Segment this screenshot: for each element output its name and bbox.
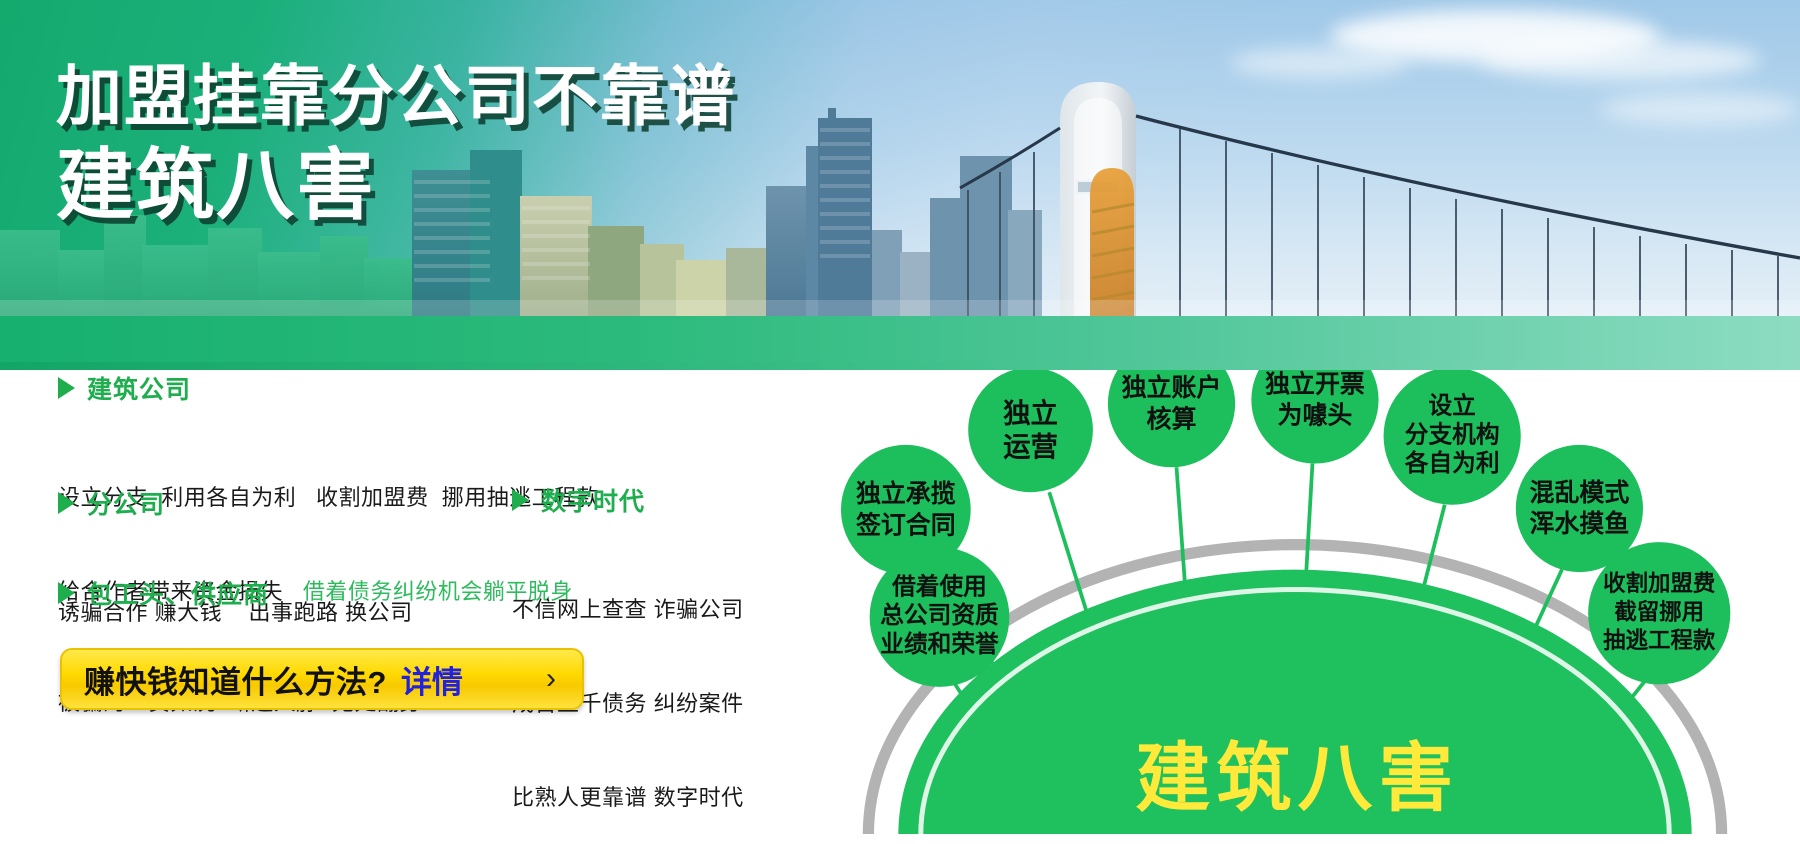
section-heading: 分公司 xyxy=(58,485,478,521)
bubble-4[interactable]: 独立账户 核算 xyxy=(1108,370,1235,467)
bubble-6-line-3: 各自为利 xyxy=(1404,449,1500,477)
body-line: 比熟人更靠谱 数字时代 xyxy=(512,782,772,813)
bubble-1-line-2: 总公司资质 xyxy=(880,601,999,629)
cta-button[interactable]: 赚快钱知道什么方法? 详情 › xyxy=(60,648,584,710)
section-heading: 数字时代 xyxy=(512,482,772,518)
bubble-5-line-2: 为噱头 xyxy=(1278,402,1353,430)
bubble-4-line-2: 核算 xyxy=(1147,404,1197,433)
section-heading-label: 包工头、供应商 xyxy=(87,575,269,611)
page-title: 加盟挂靠分公司不靠谱 建筑八害 xyxy=(56,60,736,229)
bubble-8[interactable]: 收割加盟费 截留挪用 抽逃工程款 xyxy=(1588,542,1730,684)
bridge-illustration xyxy=(960,82,1800,320)
cta-main-label: 赚快钱知道什么方法? xyxy=(84,657,387,702)
bubble-6-line-2: 分支机构 xyxy=(1405,420,1500,448)
bubble-4-line-1: 独立账户 xyxy=(1122,373,1222,402)
triangle-bullet-icon xyxy=(512,489,529,511)
hero-green-baseline xyxy=(0,316,1800,370)
bubble-5-line-1: 独立开票 xyxy=(1265,370,1365,398)
bubble-8-line-2: 截留挪用 xyxy=(1614,599,1704,624)
diagram-svg: 建筑八害 借着使用 总公司资质 业绩和荣誉 独立承揽 签订合同 xyxy=(790,370,1800,844)
triangle-bullet-icon xyxy=(58,492,75,514)
body-line: 不信网上查查 诈骗公司 xyxy=(512,594,772,625)
chevron-right-icon: › xyxy=(546,664,560,694)
cta-detail-link[interactable]: 详情 xyxy=(401,657,463,702)
section-heading: 包工头、供应商 xyxy=(58,575,518,611)
section-heading-label: 数字时代 xyxy=(541,482,645,518)
bubble-3-line-2: 运营 xyxy=(1003,431,1058,462)
bubble-2-line-1: 独立承揽 xyxy=(856,479,956,508)
dome-center-label: 建筑八害 xyxy=(1135,736,1459,820)
bubble-2-circle[interactable] xyxy=(841,445,971,575)
section-heading: 建筑公司 xyxy=(58,370,578,406)
title-line-2: 建筑八害 xyxy=(56,142,736,229)
poster-root: 加盟挂靠分公司不靠谱 建筑八害 建筑公司 设立分支 利用各自为利 收割加盟费 挪… xyxy=(0,0,1800,844)
bubble-6-line-1: 设立 xyxy=(1428,392,1475,420)
bubble-1-line-1: 借着使用 xyxy=(891,573,987,601)
bubble-2[interactable]: 独立承揽 签订合同 xyxy=(841,445,971,575)
bubble-5[interactable]: 独立开票 为噱头 xyxy=(1251,370,1378,464)
bubble-7-line-2: 浑水摸鱼 xyxy=(1530,510,1630,538)
title-line-1: 加盟挂靠分公司不靠谱 xyxy=(56,60,736,134)
bubble-7-line-1: 混乱模式 xyxy=(1530,478,1630,507)
left-content-column: 建筑公司 设立分支 利用各自为利 收割加盟费 挪用抽逃工程款 给合作者带来资金损… xyxy=(0,370,790,844)
section-heading-label: 分公司 xyxy=(87,485,165,521)
bubble-3[interactable]: 独立 运营 xyxy=(968,370,1093,492)
bubble-8-line-1: 收割加盟费 xyxy=(1603,570,1715,596)
bubble-1-line-3: 业绩和荣誉 xyxy=(880,630,999,658)
bubble-8-line-3: 抽逃工程款 xyxy=(1603,627,1716,653)
section-heading-label: 建筑公司 xyxy=(87,370,191,406)
triangle-bullet-icon xyxy=(58,582,75,604)
hero-banner: 加盟挂靠分公司不靠谱 建筑八害 xyxy=(0,0,1800,370)
triangle-bullet-icon xyxy=(58,377,75,399)
bubble-2-line-2: 签订合同 xyxy=(856,510,956,539)
bubble-6[interactable]: 设立 分支机构 各自为利 xyxy=(1384,370,1521,505)
eight-harms-diagram: 建筑八害 借着使用 总公司资质 业绩和荣誉 独立承揽 签订合同 xyxy=(790,370,1800,844)
bubble-3-line-1: 独立 xyxy=(1003,397,1058,428)
